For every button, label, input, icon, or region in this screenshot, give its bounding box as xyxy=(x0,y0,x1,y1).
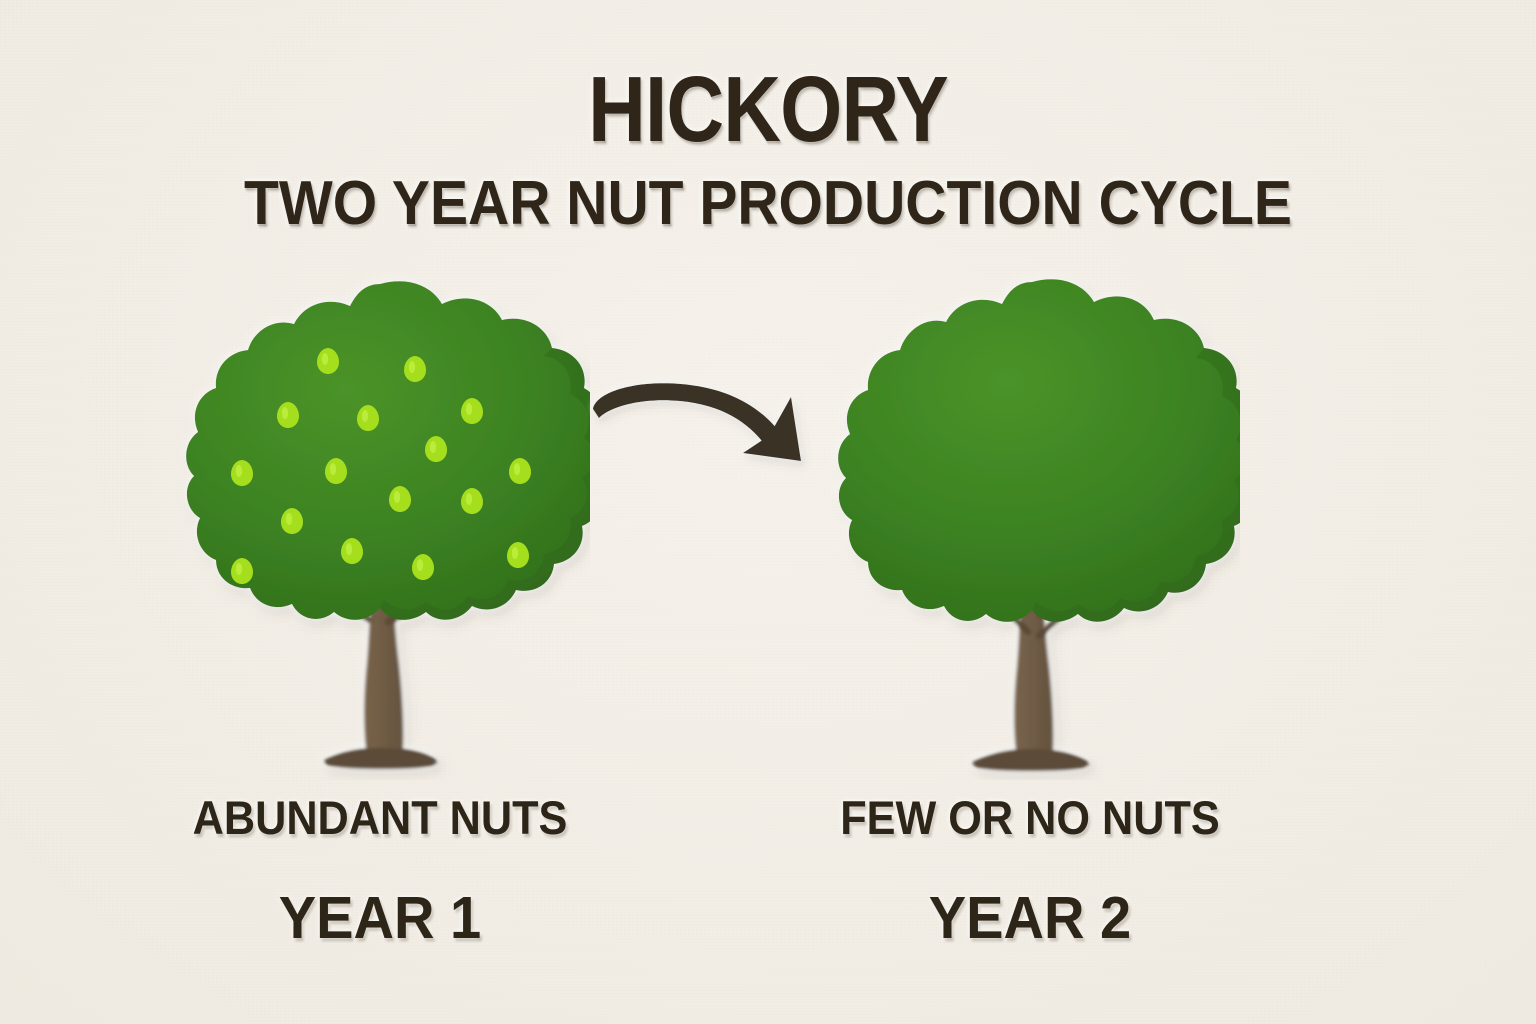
year-1-label: YEAR 1 xyxy=(114,884,646,952)
tree-canopy xyxy=(838,279,1240,622)
year-2-nuts-label: FEW OR NO NUTS xyxy=(772,790,1287,845)
curved-arrow-right-icon xyxy=(585,365,835,485)
infographic-poster: HICKORY TWO YEAR NUT PRODUCTION CYCLE xyxy=(0,0,1536,1024)
page-title: HICKORY xyxy=(108,56,1429,163)
page-subtitle: TWO YEAR NUT PRODUCTION CYCLE xyxy=(61,168,1474,239)
hickory-tree-bare-icon xyxy=(820,270,1240,780)
hickory-tree-abundant-icon xyxy=(170,270,590,780)
year-2-label: YEAR 2 xyxy=(764,884,1296,952)
year-1-nuts-label: ABUNDANT NUTS xyxy=(122,790,637,845)
